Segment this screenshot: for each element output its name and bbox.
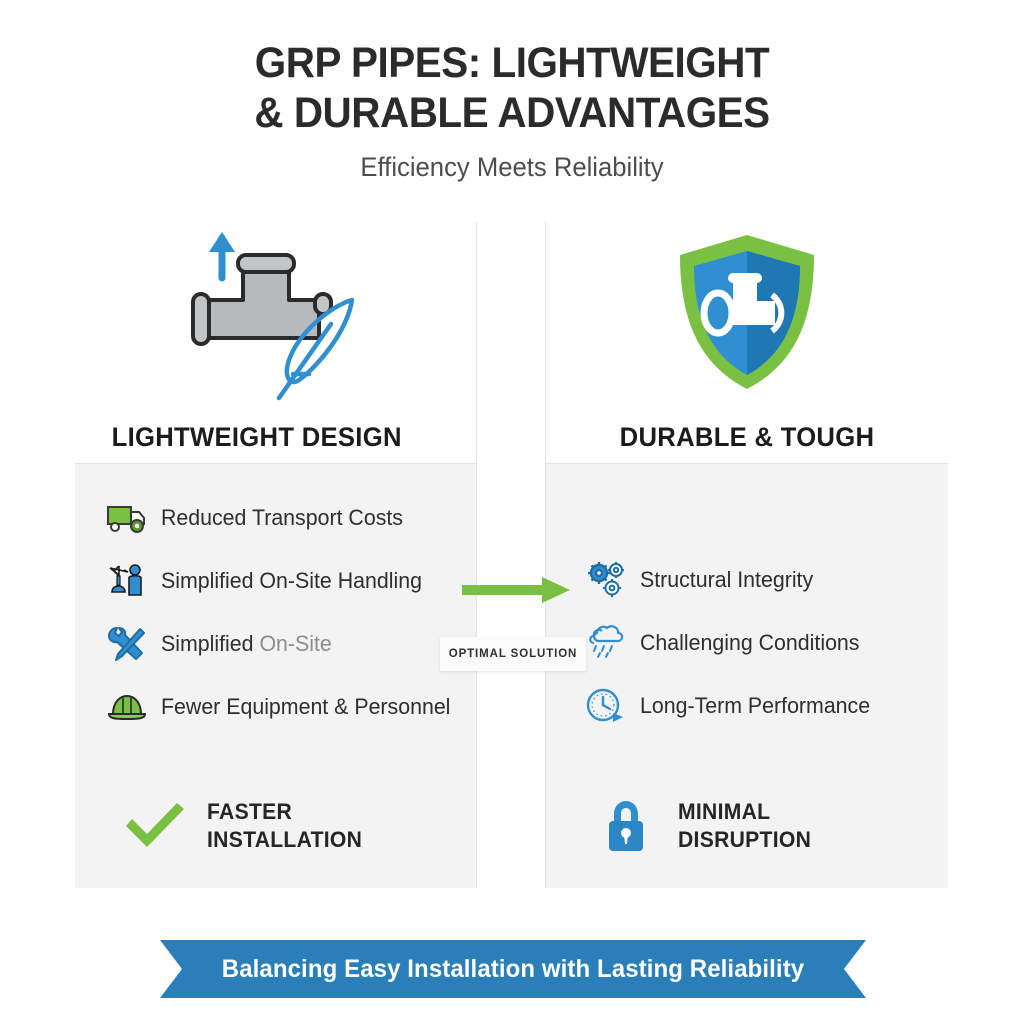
clock-arrow-icon: [584, 685, 628, 727]
ribbon-text: Balancing Easy Installation with Lasting…: [174, 940, 852, 998]
rain-cloud-icon: [584, 622, 628, 664]
optimal-solution-badge: OPTIMAL SOLUTION: [440, 637, 586, 671]
column-durable-bottom: Structural Integrity: [545, 464, 948, 888]
callout-line-2: DISRUPTION: [678, 826, 811, 854]
comparison-panels: LIGHTWEIGHT DESIGN: [75, 222, 948, 887]
title-line-2: & DURABLE ADVANTAGES: [31, 88, 994, 138]
list-item-label-dim: On-Site: [259, 631, 331, 656]
column-durable-top: DURABLE & TOUGH: [545, 222, 948, 464]
minimal-disruption-text: MINIMAL DISRUPTION: [678, 798, 811, 854]
tools-wrench-screwdriver-icon: [105, 623, 149, 665]
callout-line-1: FASTER: [207, 798, 362, 826]
callout-line-2: INSTALLATION: [207, 826, 362, 854]
shield-pipe-icon: [546, 228, 948, 403]
bottom-ribbon: Balancing Easy Installation with Lasting…: [160, 940, 866, 998]
column-durable-heading: DURABLE & TOUGH: [556, 422, 938, 453]
faster-installation-text: FASTER INSTALLATION: [207, 798, 362, 854]
lightweight-feature-list: Reduced Transport Costs: [75, 486, 476, 738]
green-right-arrow-icon: [462, 575, 572, 605]
page-title: GRP PIPES: LIGHTWEIGHT & DURABLE ADVANTA…: [31, 38, 994, 138]
list-item[interactable]: Long-Term Performance: [546, 674, 948, 737]
durable-feature-list: Structural Integrity: [546, 548, 948, 737]
column-lightweight-bottom: Reduced Transport Costs: [75, 464, 477, 888]
column-lightweight: LIGHTWEIGHT DESIGN: [75, 222, 477, 887]
delivery-truck-icon: [105, 497, 149, 539]
gears-icon: [584, 559, 628, 601]
list-item-label: Reduced Transport Costs: [161, 505, 403, 531]
pipe-fitting-feather-icon: [75, 228, 476, 403]
page-subtitle: Efficiency Meets Reliability: [26, 152, 999, 183]
list-item[interactable]: Structural Integrity: [546, 548, 948, 611]
list-item-label: Structural Integrity: [640, 567, 813, 593]
list-item-label: Fewer Equipment & Personnel: [161, 694, 450, 720]
list-item-label: Simplified On-Site: [161, 631, 332, 657]
crane-worker-icon: [105, 560, 149, 602]
infographic-canvas: GRP PIPES: LIGHTWEIGHT & DURABLE ADVANTA…: [0, 0, 1024, 1024]
list-item[interactable]: Reduced Transport Costs: [75, 486, 476, 549]
minimal-disruption-callout: MINIMAL DISRUPTION: [546, 798, 948, 854]
column-lightweight-top: LIGHTWEIGHT DESIGN: [75, 222, 477, 464]
list-item[interactable]: Challenging Conditions: [546, 611, 948, 674]
list-item[interactable]: Simplified On-Site Handling: [75, 549, 476, 612]
list-item[interactable]: Fewer Equipment & Personnel: [75, 675, 476, 738]
list-item[interactable]: Simplified On-Site: [75, 612, 476, 675]
green-checkmark-icon: [117, 800, 193, 852]
faster-installation-callout: FASTER INSTALLATION: [75, 798, 476, 854]
header: GRP PIPES: LIGHTWEIGHT & DURABLE ADVANTA…: [0, 38, 1024, 183]
hard-hat-icon: [105, 686, 149, 728]
list-item-label: Challenging Conditions: [640, 630, 859, 656]
column-lightweight-heading: LIGHTWEIGHT DESIGN: [85, 422, 466, 453]
list-item-label-strong: Simplified: [161, 631, 259, 656]
list-item-label: Simplified On-Site Handling: [161, 568, 422, 594]
column-durable: DURABLE & TOUGH: [545, 222, 948, 887]
title-line-1: GRP PIPES: LIGHTWEIGHT: [31, 38, 994, 88]
list-item-label: Long-Term Performance: [640, 693, 870, 719]
callout-line-1: MINIMAL: [678, 798, 811, 826]
padlock-icon: [588, 798, 664, 854]
